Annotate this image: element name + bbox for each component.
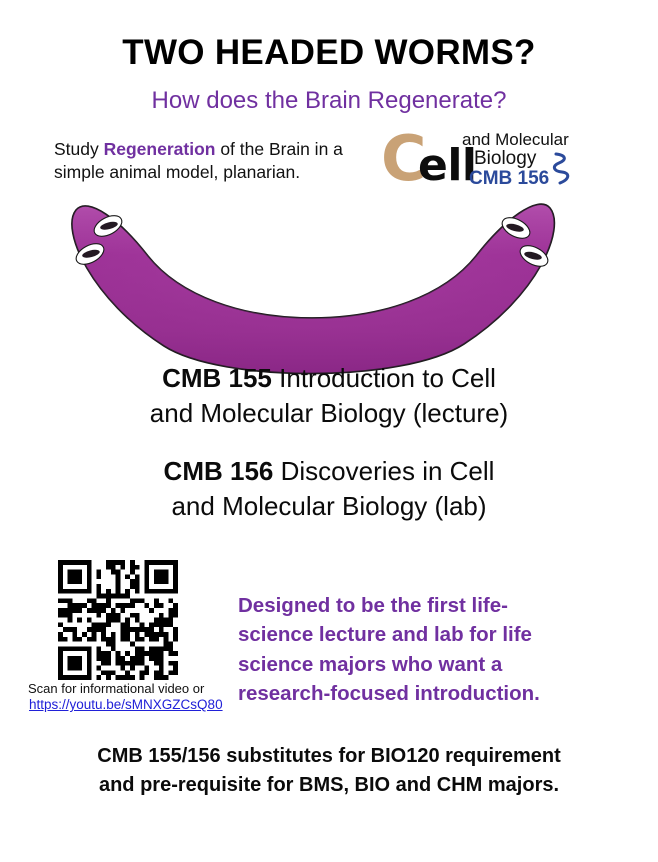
course-156-line1: CMB 156 Discoveries in Cell: [0, 454, 658, 489]
requirement-note-line1: CMB 155/156 substitutes for BIO120 requi…: [0, 742, 658, 771]
course-listing-cmb155: CMB 155 Introduction to Cell and Molecul…: [0, 361, 658, 431]
qr-caption: Scan for informational video or: [28, 681, 243, 697]
poster-canvas: TWO HEADED WORMS? How does the Brain Reg…: [0, 0, 658, 862]
course-155-code: CMB 155: [162, 363, 272, 393]
logo-and-molecular: and Molecular: [462, 130, 569, 150]
course-155-line2: and Molecular Biology (lecture): [0, 396, 658, 431]
requirement-note-line2: and pre-requisite for BMS, BIO and CHM m…: [0, 771, 658, 800]
program-callout: Designed to be the first life-science le…: [238, 591, 583, 708]
course-155-title: Introduction to Cell: [272, 363, 496, 393]
requirement-note: CMB 155/156 substitutes for BIO120 requi…: [0, 742, 658, 800]
logo-biology: Biology: [474, 148, 536, 170]
page-subtitle: How does the Brain Regenerate?: [0, 88, 658, 114]
logo-course-code: CMB 156: [469, 168, 549, 190]
study-text-before: Study: [54, 139, 104, 159]
study-highlight-regeneration: Regeneration: [104, 139, 216, 159]
logo-letters-ell: ell: [418, 144, 477, 188]
course-156-title: Discoveries in Cell: [273, 456, 494, 486]
qr-code-icon[interactable]: [58, 560, 178, 680]
course-156-line2: and Molecular Biology (lab): [0, 489, 658, 524]
course-listing-cmb156: CMB 156 Discoveries in Cell and Molecula…: [0, 454, 658, 524]
worm-squiggle-icon: [552, 152, 572, 191]
planarian-worm-illustration: [52, 196, 572, 378]
study-description: Study Regeneration of the Brain in a sim…: [54, 138, 384, 185]
course-155-line1: CMB 155 Introduction to Cell: [0, 361, 658, 396]
page-title: TWO HEADED WORMS?: [0, 34, 658, 73]
video-link[interactable]: https://youtu.be/sMNXGZCsQ80: [29, 697, 223, 712]
course-156-code: CMB 156: [164, 456, 274, 486]
cmb-logo: C ell and Molecular Biology CMB 156: [381, 130, 577, 196]
